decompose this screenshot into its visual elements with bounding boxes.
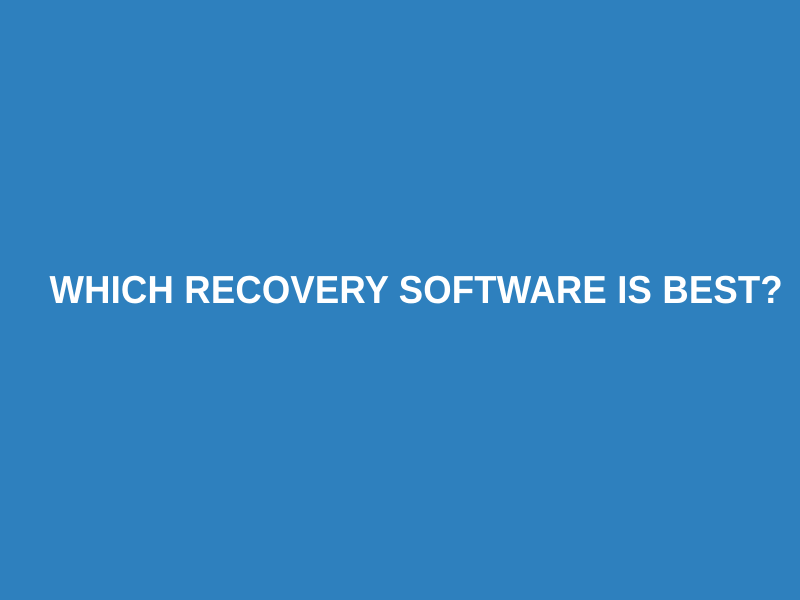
banner-title: WHICH RECOVERY SOFTWARE IS BEST? bbox=[49, 270, 782, 313]
banner: WHICH RECOVERY SOFTWARE IS BEST? bbox=[0, 0, 800, 600]
banner-content: WHICH RECOVERY SOFTWARE IS BEST? bbox=[0, 270, 800, 313]
